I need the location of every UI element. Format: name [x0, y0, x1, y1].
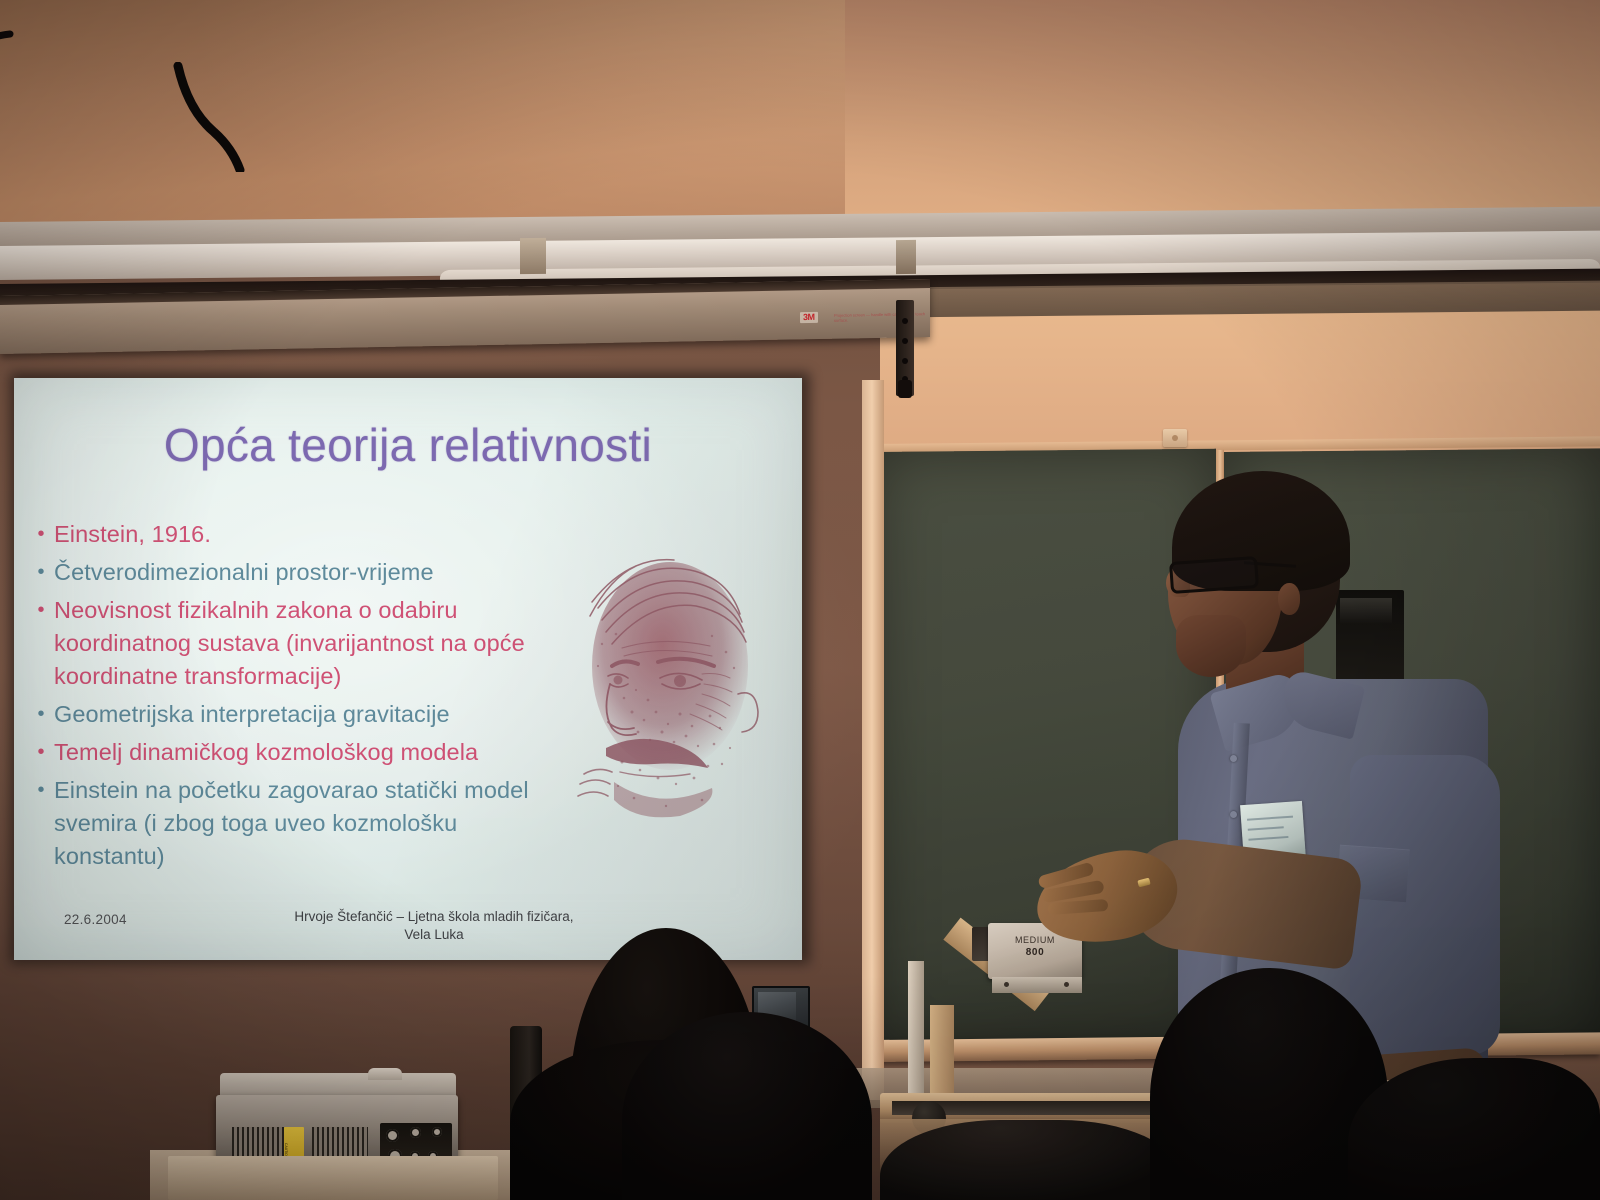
3m-logo: 3M [800, 312, 818, 323]
projector-signal-cable [166, 62, 246, 172]
lecture-room-photo: 3M Projection screen — handle with care.… [0, 0, 1600, 1200]
projection-screen: Opća teorija relativnosti • Einstein, 19… [14, 378, 802, 960]
glasses-icon [1169, 556, 1259, 594]
projector-power-cable [0, 28, 14, 108]
wall-socket-icon[interactable] [1163, 429, 1187, 447]
screen-pull-knob[interactable] [898, 380, 912, 398]
audience-head [880, 1120, 1180, 1200]
table-papers [168, 1156, 498, 1200]
